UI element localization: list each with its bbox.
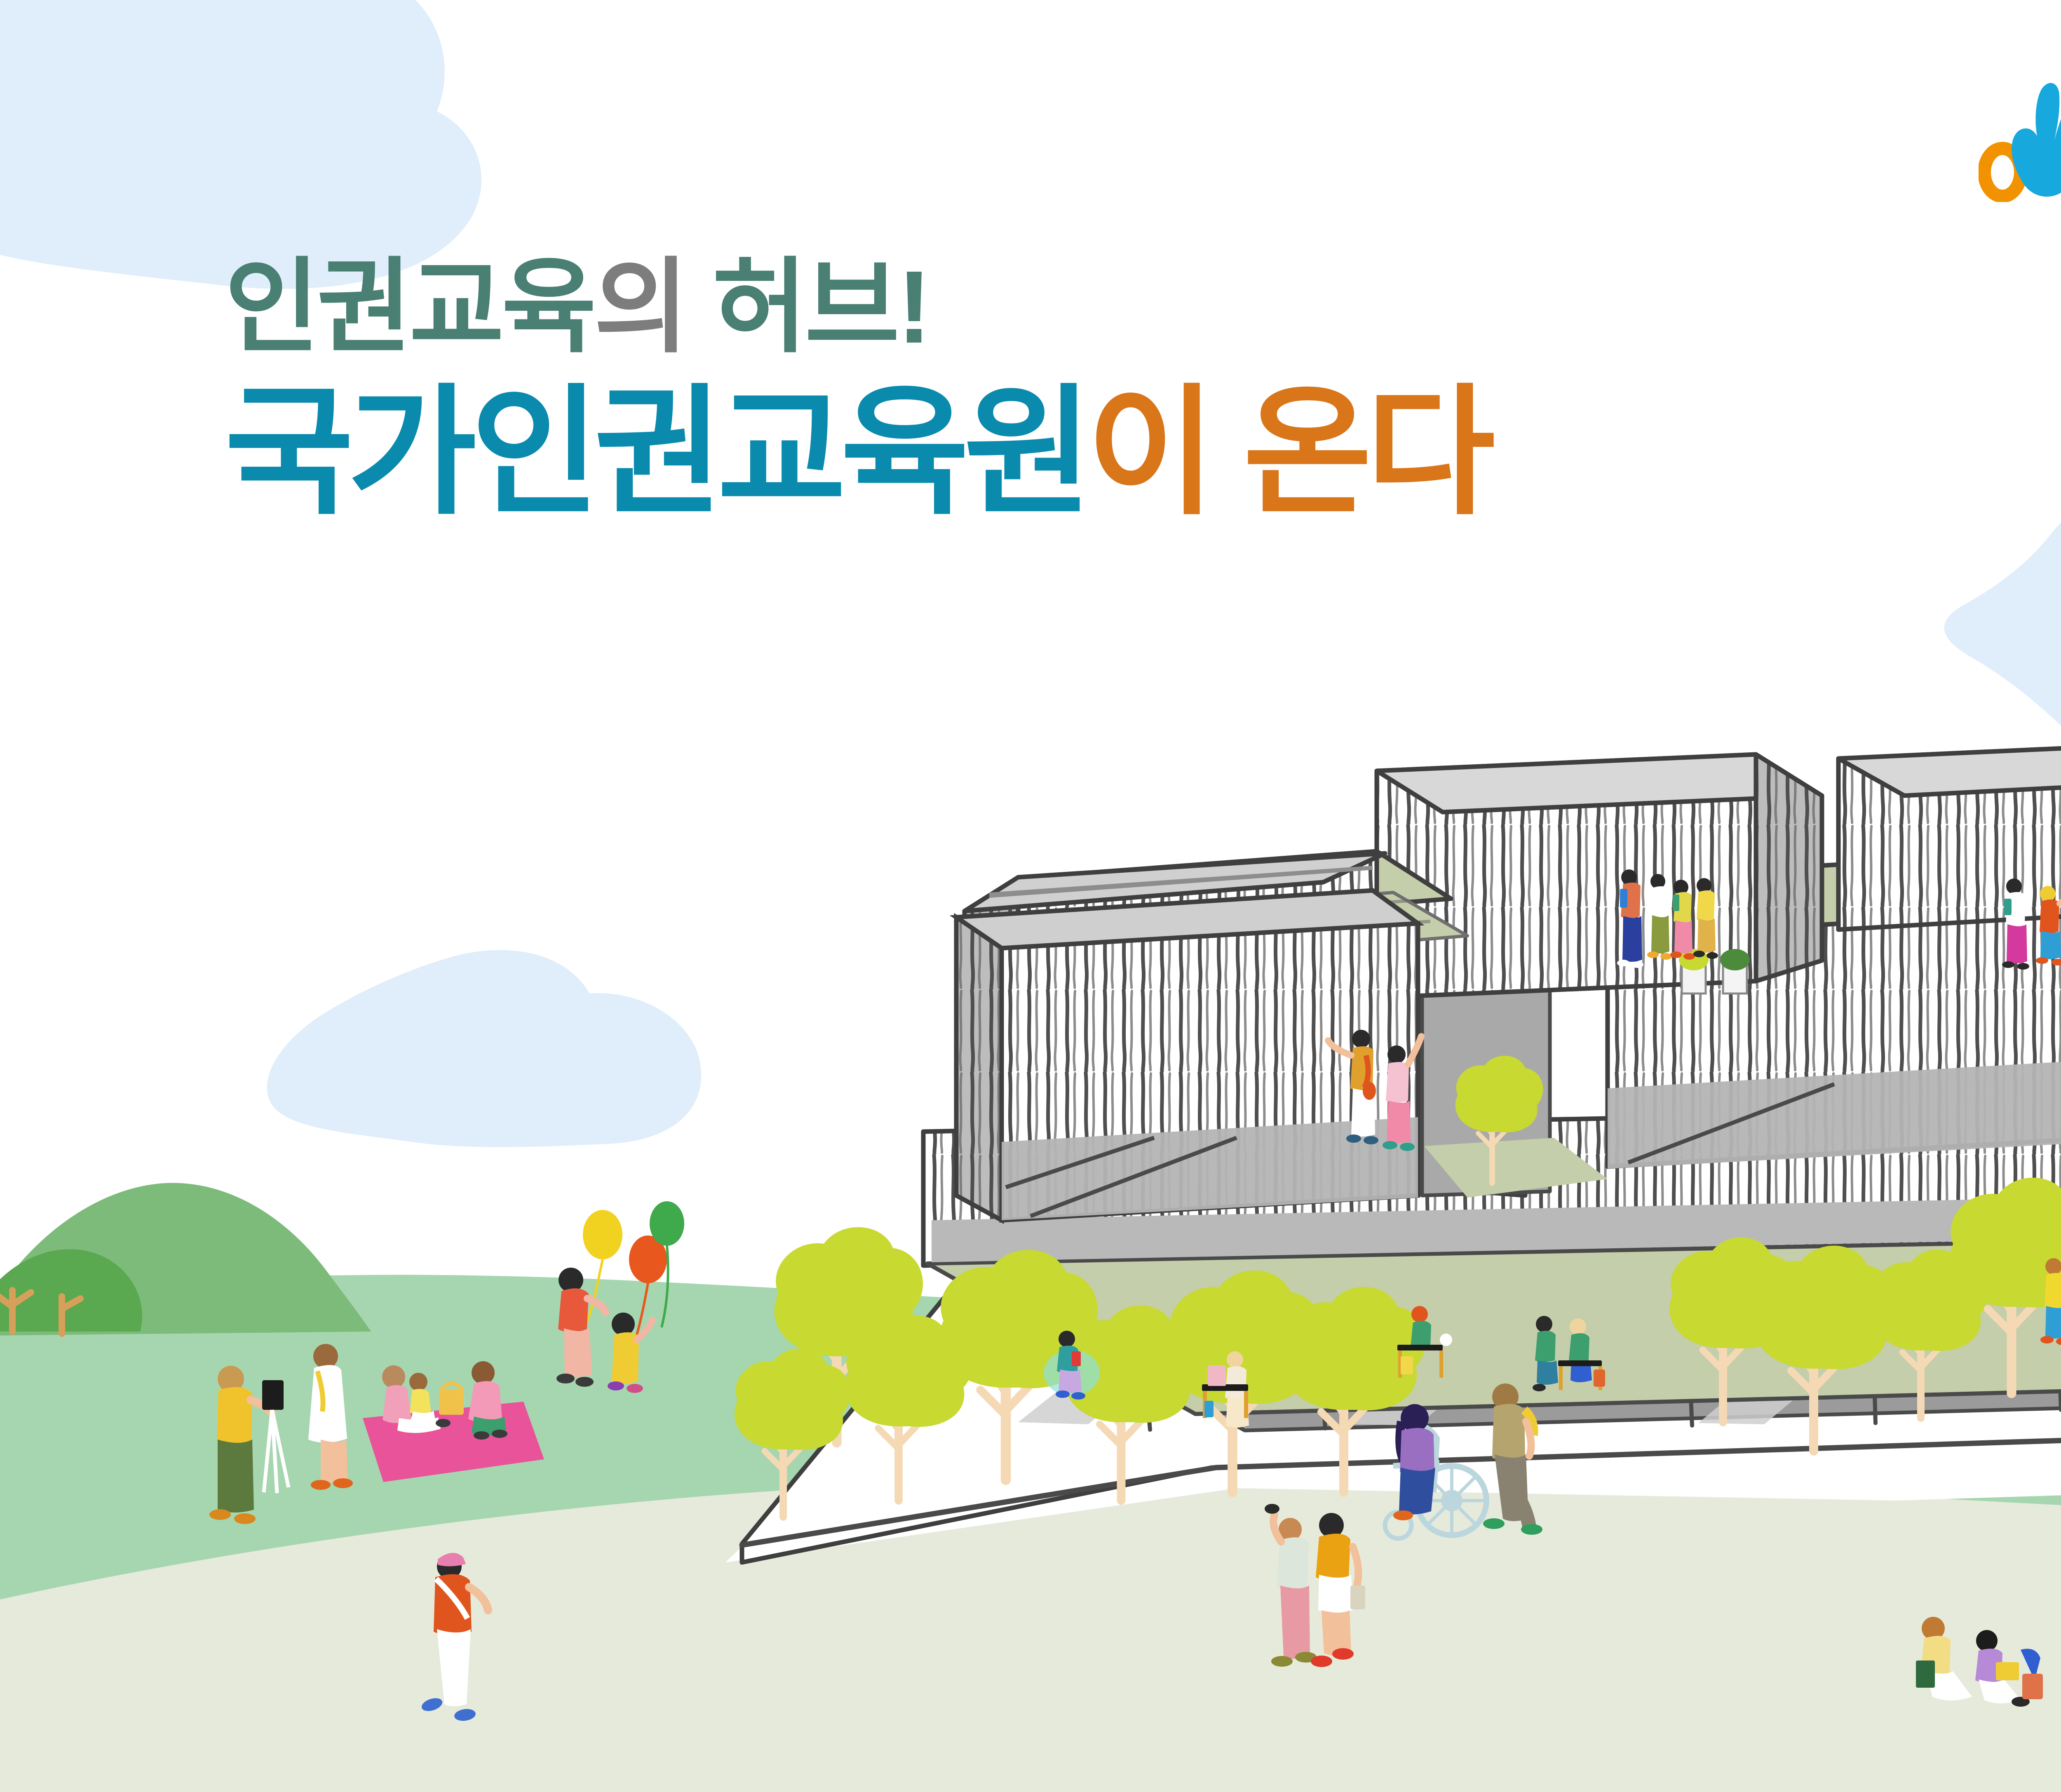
- tagline: 인권교육의 허브!: [225, 256, 1489, 359]
- picnic-person-2: [468, 1361, 507, 1440]
- plaza-walker-yellow: [1311, 1513, 1365, 1667]
- picnic-blanket-group: [363, 1361, 544, 1482]
- title-accent: 이 온다: [1087, 374, 1490, 531]
- picnic-basket: [439, 1383, 464, 1415]
- hand-bird-mark-icon: [1979, 78, 2061, 202]
- organization-logo[interactable]: 국가인권위원회: [1979, 78, 2061, 202]
- courtyard-pair: [1328, 1030, 1421, 1151]
- page-title: 국가인권교육원이 온다: [225, 383, 1489, 523]
- title-main: 국가인권교육원: [225, 374, 1087, 531]
- picnic-child: [409, 1373, 435, 1423]
- photographer-with-tripod: [209, 1366, 289, 1524]
- lawn-readers-right: [1916, 1510, 2061, 1707]
- plaza-walker-pink: [1265, 1504, 1317, 1667]
- model-white-dress: [308, 1344, 353, 1490]
- tagline-pre: 인권교육: [225, 249, 594, 364]
- poster-canvas: 인권교육의 허브! 국가인권교육원이 온다 국가인권위원회: [0, 0, 2061, 1792]
- headline-block: 인권교육의 허브! 국가인권교육원이 온다: [225, 256, 1489, 523]
- wheelchair-companion: [1483, 1383, 1542, 1535]
- tagline-particle: 의: [594, 249, 686, 364]
- rooftop-group: [1617, 869, 1718, 968]
- tagline-post: 허브!: [686, 249, 929, 364]
- rooftop-pair: [2002, 878, 2061, 970]
- wheelchair-pair: [1385, 1383, 1542, 1538]
- runner-orange: [420, 1553, 488, 1722]
- balloon-kid-yellow: [608, 1313, 653, 1393]
